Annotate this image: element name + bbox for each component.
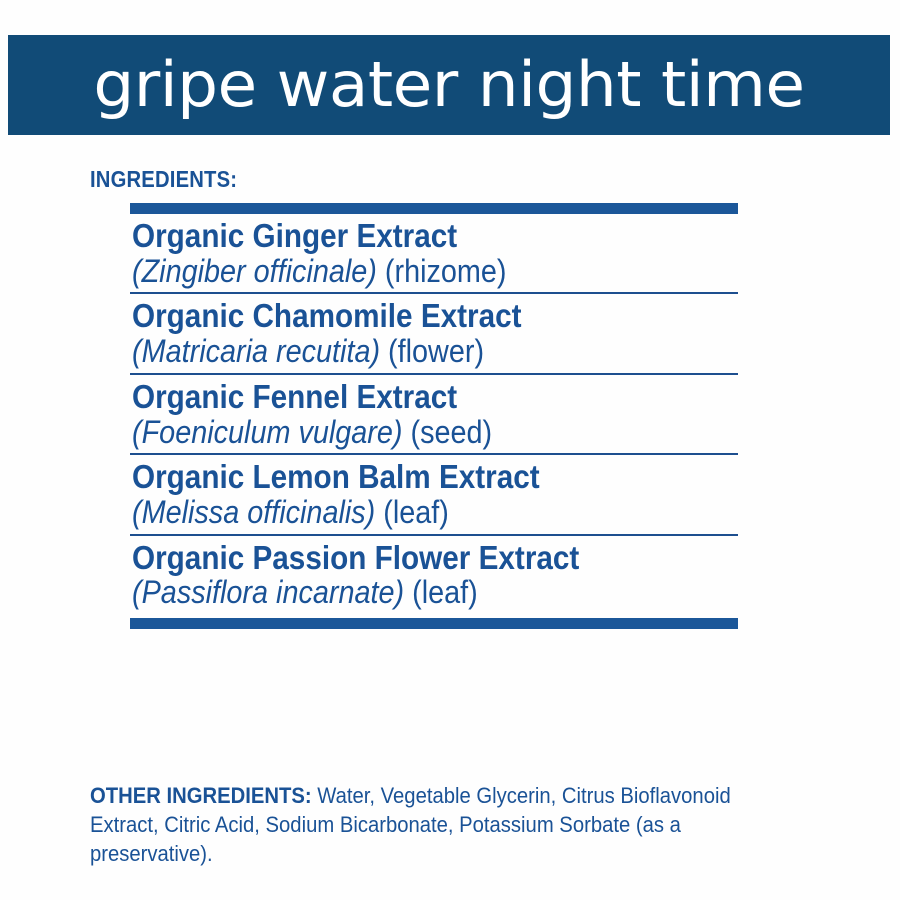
list-top-rule: [130, 203, 738, 214]
ingredients-list: Organic Ginger Extract (Zingiber officin…: [130, 203, 738, 629]
ingredient-plant-part: (seed): [411, 414, 493, 450]
ingredient-latin-line: (Zingiber officinale) (rhizome): [132, 254, 677, 290]
supplement-label-card: gripe water night time INGREDIENTS: Orga…: [0, 0, 900, 900]
ingredient-name: Organic Ginger Extract: [132, 218, 677, 254]
ingredient-scientific-name: (Zingiber officinale): [132, 253, 377, 289]
ingredient-plant-part: (rhizome): [385, 253, 507, 289]
list-item: Organic Lemon Balm Extract (Melissa offi…: [130, 455, 738, 533]
ingredient-scientific-name: (Melissa officinalis): [132, 494, 375, 530]
ingredient-scientific-name: (Foeniculum vulgare): [132, 414, 403, 450]
ingredient-name: Organic Lemon Balm Extract: [132, 459, 677, 495]
ingredient-name: Organic Chamomile Extract: [132, 298, 677, 334]
product-title-banner: gripe water night time: [8, 35, 890, 135]
ingredient-latin-line: (Foeniculum vulgare) (seed): [132, 415, 677, 451]
ingredient-plant-part: (leaf): [412, 574, 478, 610]
ingredient-scientific-name: (Matricaria recutita): [132, 333, 380, 369]
ingredient-scientific-name: (Passiflora incarnate): [132, 574, 404, 610]
list-item: Organic Fennel Extract (Foeniculum vulga…: [130, 375, 738, 453]
ingredient-plant-part: (leaf): [383, 494, 449, 530]
ingredient-latin-line: (Matricaria recutita) (flower): [132, 334, 677, 370]
ingredients-heading: INGREDIENTS:: [90, 166, 237, 193]
other-ingredients-label: OTHER INGREDIENTS:: [90, 783, 312, 808]
list-bottom-rule: [130, 618, 738, 629]
ingredient-name: Organic Fennel Extract: [132, 379, 677, 415]
other-ingredients-block: OTHER INGREDIENTS: Water, Vegetable Glyc…: [90, 782, 756, 868]
product-title: gripe water night time: [93, 54, 804, 116]
ingredient-plant-part: (flower): [388, 333, 484, 369]
list-item: Organic Ginger Extract (Zingiber officin…: [130, 214, 738, 292]
list-item: Organic Chamomile Extract (Matricaria re…: [130, 294, 738, 372]
ingredient-latin-line: (Passiflora incarnate) (leaf): [132, 575, 677, 611]
ingredient-name: Organic Passion Flower Extract: [132, 540, 677, 576]
ingredient-latin-line: (Melissa officinalis) (leaf): [132, 495, 677, 531]
list-item: Organic Passion Flower Extract (Passiflo…: [130, 536, 738, 614]
